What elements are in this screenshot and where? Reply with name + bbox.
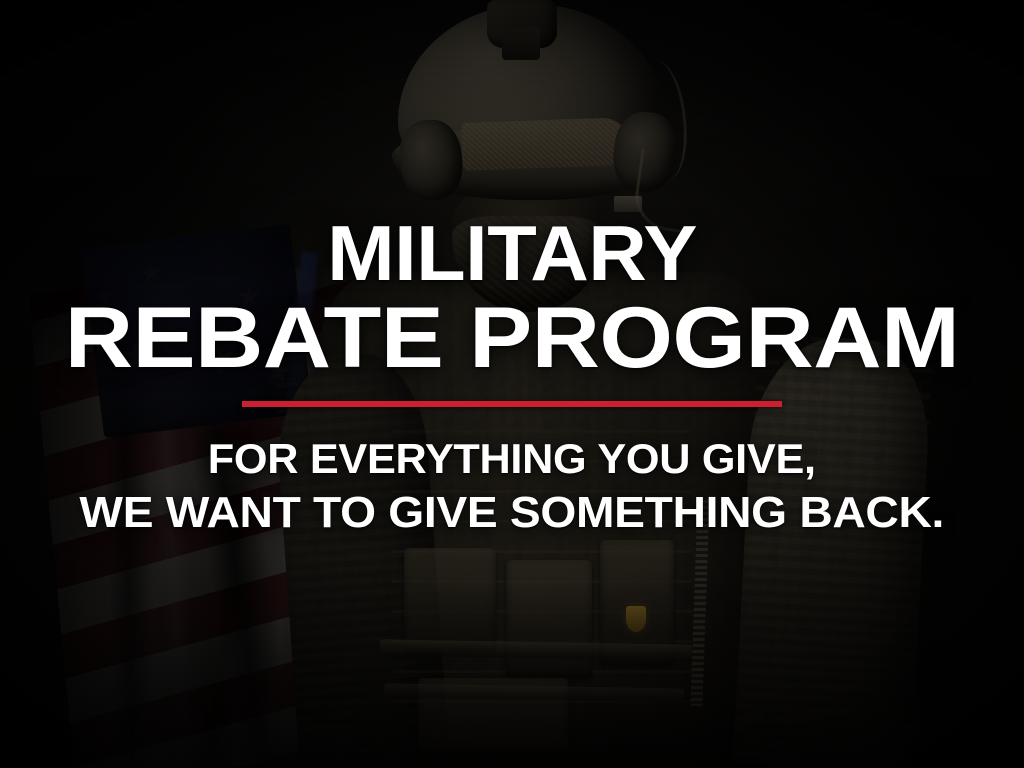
subheadline-line-2: WE WANT TO GIVE SOMETHING BACK. — [80, 490, 945, 537]
red-divider-rule — [242, 401, 782, 407]
banner-stage: MILITARY REBATE PROGRAM FOR EVERYTHING Y… — [0, 0, 1024, 768]
headline-line-1: MILITARY — [0, 216, 1024, 291]
banner-content: MILITARY REBATE PROGRAM FOR EVERYTHING Y… — [0, 0, 1024, 768]
headline-line-2: REBATE PROGRAM — [0, 297, 1024, 380]
headline: MILITARY REBATE PROGRAM — [0, 0, 1024, 379]
subheadline-line-1: FOR EVERYTHING YOU GIVE, — [88, 437, 936, 482]
subheadline: FOR EVERYTHING YOU GIVE, WE WANT TO GIVE… — [100, 437, 923, 536]
